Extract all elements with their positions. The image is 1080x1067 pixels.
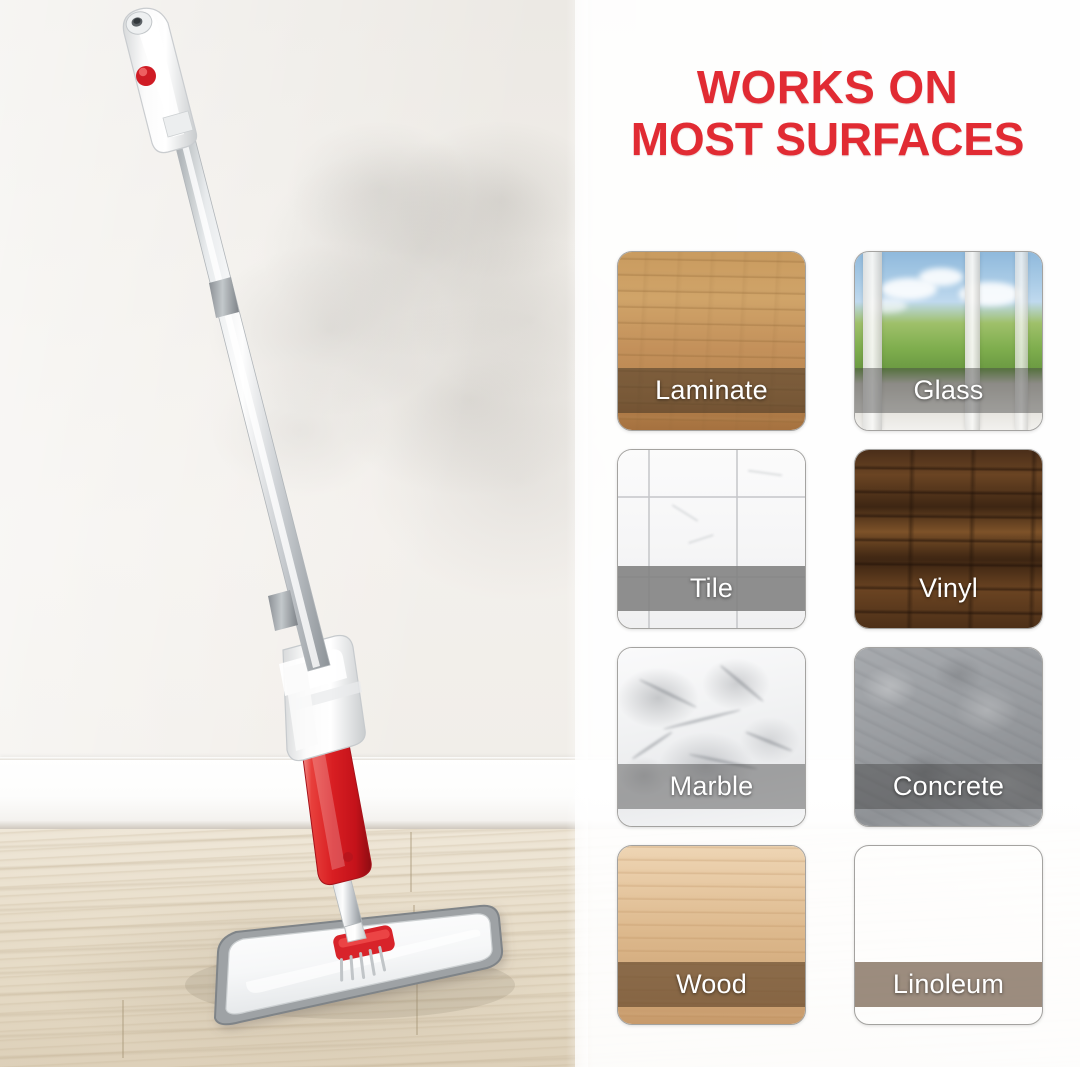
bottle-base-cap xyxy=(343,852,353,862)
surface-tile-concrete[interactable]: Concrete xyxy=(854,647,1043,827)
surface-label: Tile xyxy=(618,566,805,611)
surface-tile-linoleum[interactable]: Linoleum xyxy=(854,845,1043,1025)
surface-tile-marble[interactable]: Marble xyxy=(617,647,806,827)
surface-grid: Laminate Glass xyxy=(617,251,1041,1025)
surface-tile-laminate[interactable]: Laminate xyxy=(617,251,806,431)
surface-tile-glass[interactable]: Glass xyxy=(854,251,1043,431)
mop-handle xyxy=(123,8,196,152)
surface-tile-vinyl[interactable]: Vinyl xyxy=(854,449,1043,629)
surface-label: Concrete xyxy=(855,764,1042,809)
product-marketing-image: WORKS ON MOST SURFACES Laminate Glass xyxy=(0,0,1080,1067)
surface-tile-wood[interactable]: Wood xyxy=(617,845,806,1025)
spray-mop-product xyxy=(0,0,600,1067)
surface-label: Marble xyxy=(618,764,805,809)
surface-tile-tile[interactable]: Tile xyxy=(617,449,806,629)
surface-label: Wood xyxy=(618,962,805,1007)
pole-specular-highlight xyxy=(178,129,320,669)
surface-label: Laminate xyxy=(618,368,805,413)
pole-collar-upper xyxy=(209,277,239,318)
surface-label: Vinyl xyxy=(855,566,1042,611)
headline-line-1: WORKS ON xyxy=(697,61,958,113)
headline-line-2: MOST SURFACES xyxy=(575,114,1080,166)
spray-trigger-button-gloss xyxy=(139,68,147,76)
headline: WORKS ON MOST SURFACES xyxy=(575,62,1080,165)
spray-trigger-button xyxy=(136,66,156,86)
surface-label: Glass xyxy=(855,368,1042,413)
surface-label: Linoleum xyxy=(855,962,1042,1007)
spray-bottle xyxy=(279,635,371,884)
